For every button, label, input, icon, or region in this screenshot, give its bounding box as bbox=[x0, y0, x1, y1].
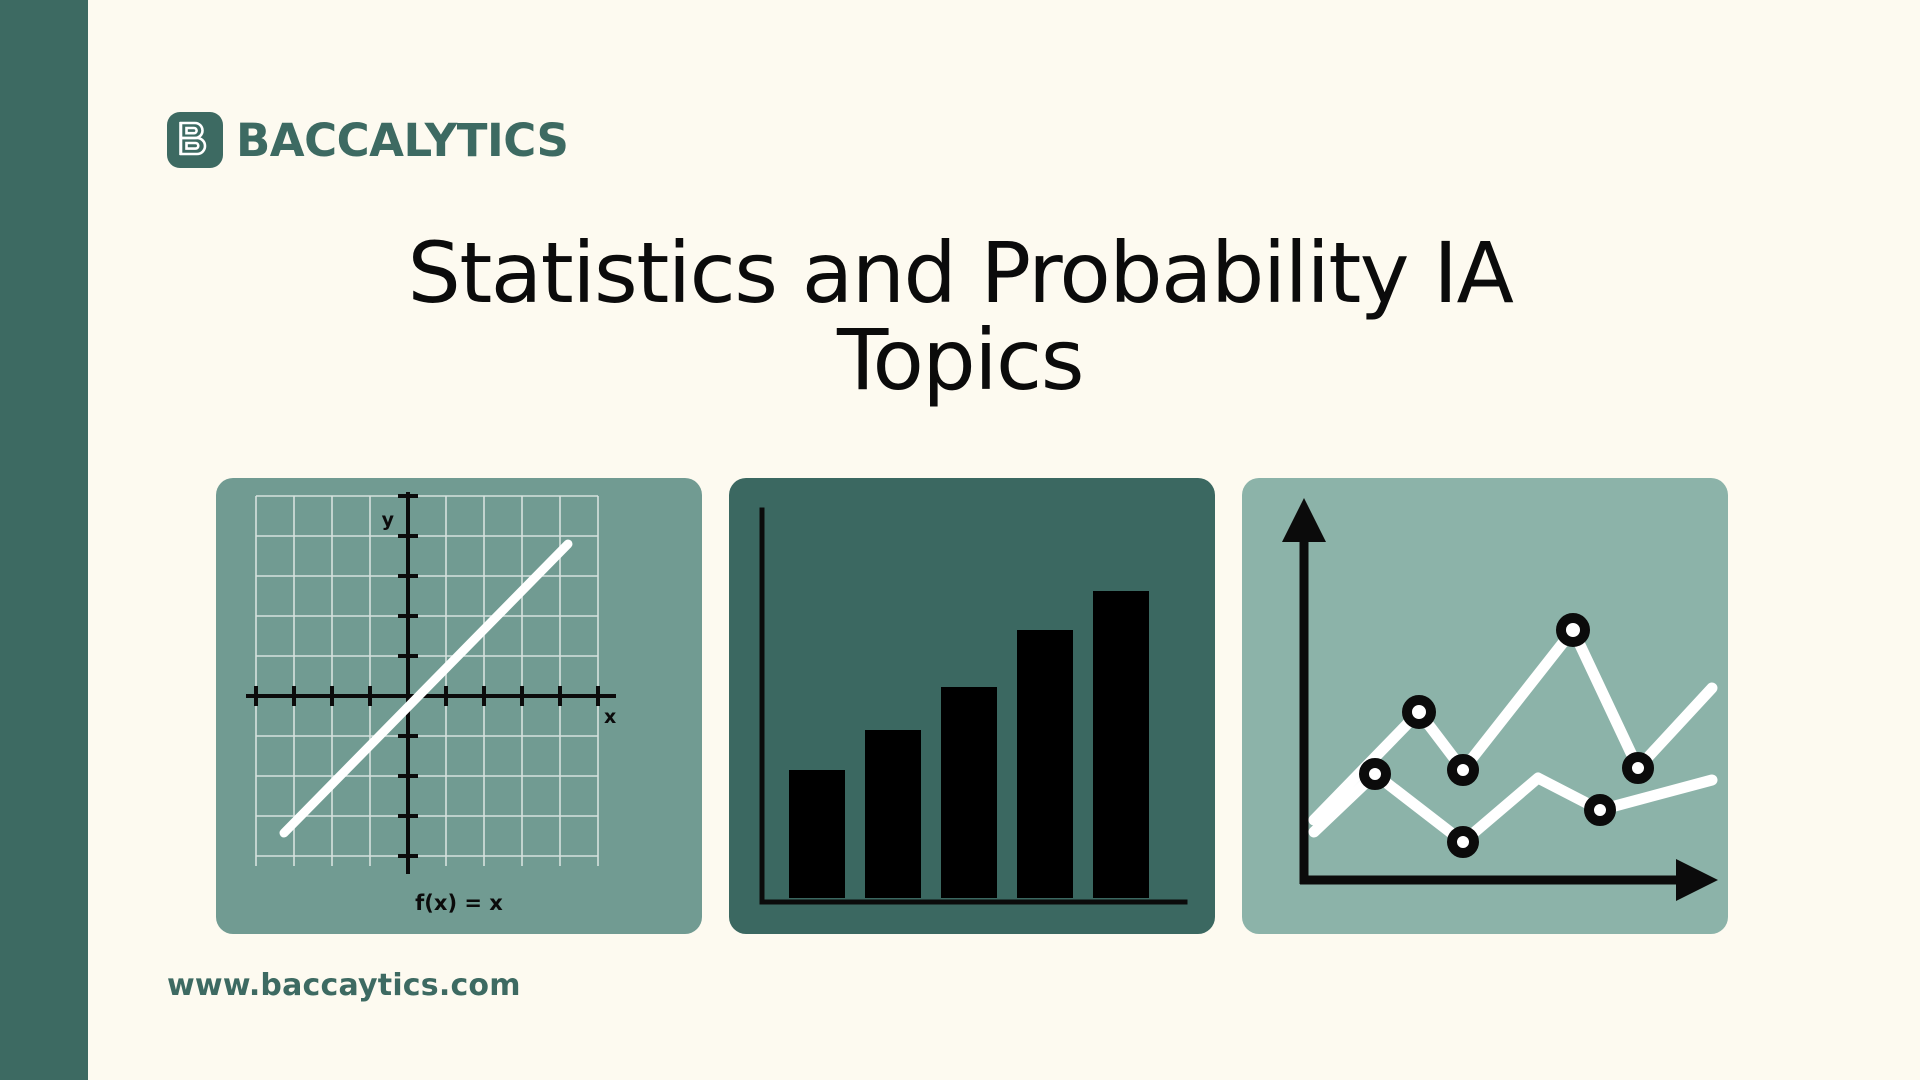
card-linear-function-graph[interactable]: y x f(x) = x bbox=[216, 478, 702, 934]
line-chart-markers-upper bbox=[1407, 618, 1649, 781]
bar-chart-bars bbox=[789, 591, 1149, 898]
bar-4 bbox=[1017, 630, 1073, 898]
illustration-card-row: y x f(x) = x bbox=[216, 478, 1728, 934]
bar-2 bbox=[865, 730, 921, 898]
page-title: Statistics and Probability IA Topics bbox=[160, 230, 1760, 405]
graph-y-axis-label: y bbox=[382, 509, 395, 531]
card-line-chart[interactable] bbox=[1242, 478, 1728, 934]
brand-wordmark: BACCALYTICS bbox=[236, 118, 568, 163]
left-accent-bar bbox=[0, 0, 88, 1080]
page-title-line-1: Statistics and Probability IA bbox=[160, 230, 1760, 317]
footer-website-url[interactable]: www.baccaytics.com bbox=[167, 968, 521, 1003]
bar-5 bbox=[1093, 591, 1149, 898]
x-axis-arrow-icon bbox=[1676, 859, 1718, 901]
logo-b-mark-icon bbox=[167, 112, 223, 168]
slide-canvas: BACCALYTICS Statistics and Probability I… bbox=[0, 0, 1920, 1080]
y-axis-arrow-icon bbox=[1282, 498, 1326, 542]
bar-3 bbox=[941, 687, 997, 898]
card-bar-chart[interactable] bbox=[729, 478, 1215, 934]
brand-logo[interactable]: BACCALYTICS bbox=[167, 112, 568, 168]
graph-caption: f(x) = x bbox=[415, 891, 503, 915]
bar-1 bbox=[789, 770, 845, 898]
graph-x-axis-label: x bbox=[604, 706, 616, 728]
line-chart-axes bbox=[1282, 498, 1718, 901]
page-title-line-2: Topics bbox=[160, 317, 1760, 404]
graph-function-line bbox=[284, 544, 568, 833]
line-chart-markers-lower bbox=[1364, 763, 1611, 853]
